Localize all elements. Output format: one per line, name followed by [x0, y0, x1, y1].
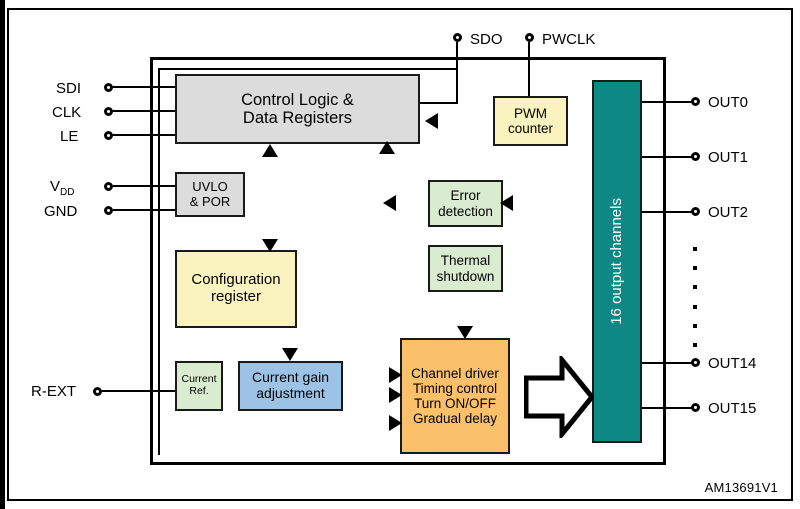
block-pwm-counter: PWM counter — [493, 96, 568, 146]
pin-dot-le[interactable] — [104, 131, 113, 140]
block-control-logic: Control Logic & Data Registers — [175, 74, 420, 144]
error-detection-line1: Error — [438, 188, 493, 203]
pin-label-vdd: VDD — [50, 178, 74, 198]
wire-internal-left-bus — [158, 70, 160, 455]
pin-label-out0: OUT0 — [708, 94, 748, 111]
arrowhead-outputs-to-error — [500, 195, 513, 211]
arrowhead-config-to-control — [262, 144, 278, 157]
arrowhead-thermal-to-control — [379, 141, 395, 154]
ellipsis-dot — [693, 324, 697, 328]
wire-internal-top-bus — [158, 68, 458, 70]
wire-sdo-to-control — [420, 102, 458, 104]
wire-control-to-current-gain — [0, 90, 5, 295]
control-logic-line2: Data Registers — [241, 109, 354, 127]
pin-dot-out2[interactable] — [691, 207, 700, 216]
current-gain-line2: adjustment — [252, 386, 329, 402]
block-current-ref: Current Ref. — [175, 361, 223, 411]
block-current-gain-adjustment: Current gain adjustment — [238, 361, 343, 411]
pin-label-le: LE — [60, 128, 78, 145]
vertical-ellipsis — [693, 247, 697, 347]
block-diagram-figure: SDI CLK LE VDD GND R-EXT SDO PWCLK Contr… — [0, 0, 800, 509]
channel-driver-line4: Gradual delay — [411, 411, 499, 426]
arrowhead-current-gain-to-channel-driver — [389, 387, 402, 403]
pin-label-pwclk: PWCLK — [542, 31, 595, 48]
pin-dot-clk[interactable] — [104, 107, 113, 116]
pin-dot-sdi[interactable] — [104, 83, 113, 92]
current-gain-line1: Current gain — [252, 370, 329, 386]
output-channels-label: 16 output channels — [609, 198, 626, 325]
pin-dot-out1[interactable] — [691, 152, 700, 161]
pin-dot-pwclk[interactable] — [525, 33, 534, 42]
block-configuration-register: Configuration register — [175, 250, 297, 328]
ellipsis-dot — [693, 305, 697, 309]
wire-out1 — [642, 156, 697, 158]
arrowhead-pwm-to-control — [425, 113, 438, 129]
pin-dot-out0[interactable] — [691, 97, 700, 106]
pin-label-sdi: SDI — [56, 80, 81, 97]
block-uvlo-por: UVLO & POR — [175, 172, 245, 217]
pin-label-gnd: GND — [44, 203, 77, 220]
pwm-counter-line1: PWM — [508, 106, 553, 121]
hollow-arrow-driver-to-outputs — [524, 356, 594, 438]
figure-caption: AM13691V1 — [705, 480, 778, 495]
pin-label-vdd-sub: DD — [60, 187, 74, 198]
channel-driver-line1: Channel driver — [411, 366, 499, 381]
wire-out2 — [642, 211, 697, 213]
wire-out15 — [642, 407, 697, 409]
pin-label-out15: OUT15 — [708, 400, 756, 417]
wire-right-internal-bus — [664, 60, 666, 463]
wire-clk — [113, 110, 175, 112]
pin-dot-rext[interactable] — [93, 387, 102, 396]
wire-sdo-vertical — [456, 42, 458, 104]
block-error-detection: Error detection — [428, 180, 503, 227]
arrowhead-error-to-control — [383, 195, 396, 211]
wire-le — [113, 134, 175, 136]
wire-sdi — [113, 86, 175, 88]
arrowhead-control-to-current-gain — [282, 348, 298, 361]
pin-dot-vdd[interactable] — [104, 182, 113, 191]
pin-label-out14: OUT14 — [708, 355, 756, 372]
wire-out0 — [642, 101, 697, 103]
pin-label-rext: R-EXT — [31, 383, 76, 400]
arrowhead-control-to-channel-driver — [389, 367, 402, 383]
pin-label-sdo: SDO — [470, 31, 503, 48]
pwm-counter-line2: counter — [508, 121, 553, 136]
block-output-channels: 16 output channels — [592, 80, 642, 443]
error-detection-line2: detection — [438, 204, 493, 219]
ellipsis-dot — [693, 285, 697, 289]
config-register-line1: Configuration — [191, 272, 280, 289]
current-ref-line2: Ref. — [181, 386, 216, 398]
control-logic-line1: Control Logic & — [241, 91, 354, 109]
thermal-shutdown-line2: shutdown — [437, 269, 495, 284]
wire-rext — [102, 390, 175, 392]
wire-control-to-channel-driver-vertical — [0, 295, 5, 509]
pin-dot-sdo[interactable] — [453, 33, 462, 42]
block-thermal-shutdown: Thermal shutdown — [428, 245, 503, 292]
pin-dot-gnd[interactable] — [104, 206, 113, 215]
ellipsis-dot — [693, 266, 697, 270]
ellipsis-dot — [693, 343, 697, 347]
uvlo-line2: & POR — [190, 195, 230, 210]
channel-driver-line2: Timing control — [411, 381, 499, 396]
wire-out14 — [642, 362, 697, 364]
arrowhead-control-to-config — [262, 239, 278, 252]
block-channel-driver: Channel driver Timing control Turn ON/OF… — [400, 338, 510, 454]
channel-driver-line3: Turn ON/OFF — [411, 396, 499, 411]
arrowhead-thermal-to-channel-driver — [457, 326, 473, 339]
pin-dot-out15[interactable] — [691, 403, 700, 412]
pin-label-out1: OUT1 — [708, 149, 748, 166]
uvlo-line1: UVLO — [190, 180, 230, 195]
config-register-line2: register — [191, 289, 280, 306]
pin-label-out2: OUT2 — [708, 204, 748, 221]
arrowhead-current-ref-to-channel-driver — [389, 415, 402, 431]
pin-label-clk: CLK — [52, 104, 81, 121]
pin-dot-out14[interactable] — [691, 358, 700, 367]
wire-gnd — [113, 209, 175, 211]
wire-pwclk-vertical — [528, 42, 530, 96]
thermal-shutdown-line1: Thermal — [437, 253, 495, 268]
wire-vdd — [113, 185, 175, 187]
ellipsis-dot — [693, 247, 697, 251]
wire-control-to-config — [0, 0, 5, 90]
